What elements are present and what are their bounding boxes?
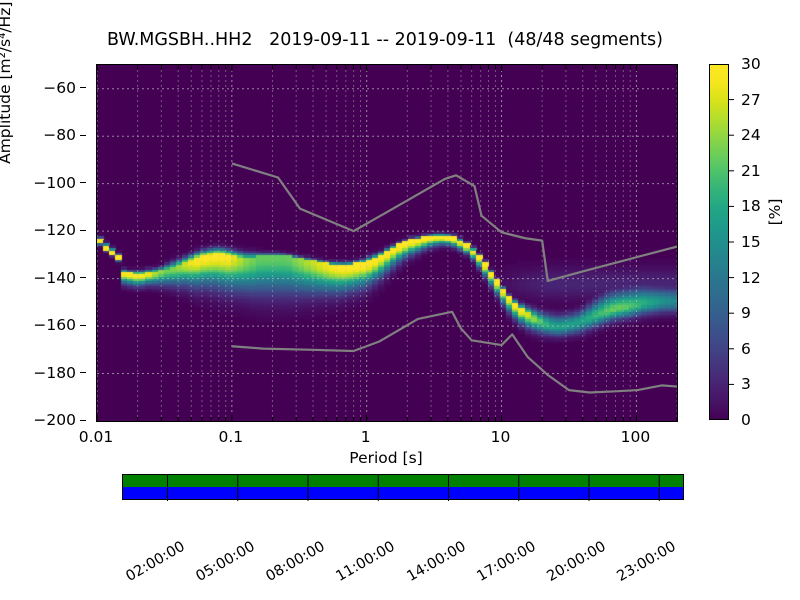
colorbar-tick-label: 15 <box>741 233 761 251</box>
y-tick-label: −60 <box>43 79 76 97</box>
nhnm-curve <box>232 163 677 280</box>
colorbar-tick-label: 3 <box>741 375 751 393</box>
coverage-time-label: 08:00:00 <box>263 539 327 585</box>
y-tick-label: −120 <box>33 221 76 239</box>
y-tick-mark <box>80 182 86 183</box>
colorbar-tick-label: 12 <box>741 269 761 287</box>
y-axis-label: Amplitude [m²/s⁴/Hz] [dB] <box>0 0 14 242</box>
y-tick-mark <box>80 277 86 278</box>
coverage-time-label: 20:00:00 <box>544 539 608 585</box>
x-tick-label: 1 <box>361 428 371 446</box>
coverage-time-label: 23:00:00 <box>615 539 679 585</box>
y-tick-label: −80 <box>43 126 76 144</box>
colorbar-tick-label: 0 <box>741 411 751 429</box>
ppsd-axes[interactable] <box>96 64 678 422</box>
coverage-time-label: 05:00:00 <box>193 539 257 585</box>
colorbar-tick-label: 27 <box>741 91 761 109</box>
y-tick-label: −200 <box>33 411 76 429</box>
nlnm-curve <box>232 312 677 393</box>
colorbar-tick-label: 6 <box>741 340 751 358</box>
x-tick-label: 0.01 <box>79 428 114 446</box>
y-tick-mark <box>80 230 86 231</box>
y-tick-label: −140 <box>33 269 76 287</box>
coverage-time-labels: 02:00:0005:00:0008:00:0011:00:0014:00:00… <box>122 502 684 572</box>
x-tick-label: 10 <box>491 428 511 446</box>
colorbar-tick-label: 21 <box>741 162 761 180</box>
y-tick-label: −180 <box>33 364 76 382</box>
coverage-time-label: 02:00:00 <box>123 539 187 585</box>
y-tick-mark <box>80 372 86 373</box>
ppsd-figure: BW.MGSBH..HH2 2019-09-11 -- 2019-09-11 (… <box>0 0 800 600</box>
y-tick-mark <box>80 420 86 421</box>
coverage-tick-marks <box>123 475 685 501</box>
y-tick-mark <box>80 325 86 326</box>
y-tick-mark <box>80 135 86 136</box>
x-tick-labels: 0.010.1110100 <box>96 424 676 448</box>
y-tick-label: −100 <box>33 174 76 192</box>
x-tick-label: 100 <box>621 428 651 446</box>
colorbar-tick-label: 30 <box>741 55 761 73</box>
coverage-time-label: 17:00:00 <box>474 539 538 585</box>
y-tick-label: −160 <box>33 316 76 334</box>
coverage-time-label: 11:00:00 <box>334 539 398 585</box>
y-tick-mark <box>80 87 86 88</box>
page-title: BW.MGSBH..HH2 2019-09-11 -- 2019-09-11 (… <box>0 30 770 50</box>
x-tick-label: 0.1 <box>219 428 244 446</box>
colorbar-tick-label: 9 <box>741 304 751 322</box>
colorbar-unit-label: [%] <box>766 182 784 242</box>
data-coverage-axes[interactable] <box>122 474 684 500</box>
colorbar-tick-label: 24 <box>741 126 761 144</box>
x-axis-label: Period [s] <box>96 449 676 467</box>
noise-model-curves <box>97 65 677 421</box>
colorbar-tick-label: 18 <box>741 197 761 215</box>
colorbar[interactable]: 036912151821242730 <box>709 64 729 420</box>
colorbar-tick-labels: 036912151821242730 <box>709 64 769 420</box>
coverage-time-label: 14:00:00 <box>404 539 468 585</box>
